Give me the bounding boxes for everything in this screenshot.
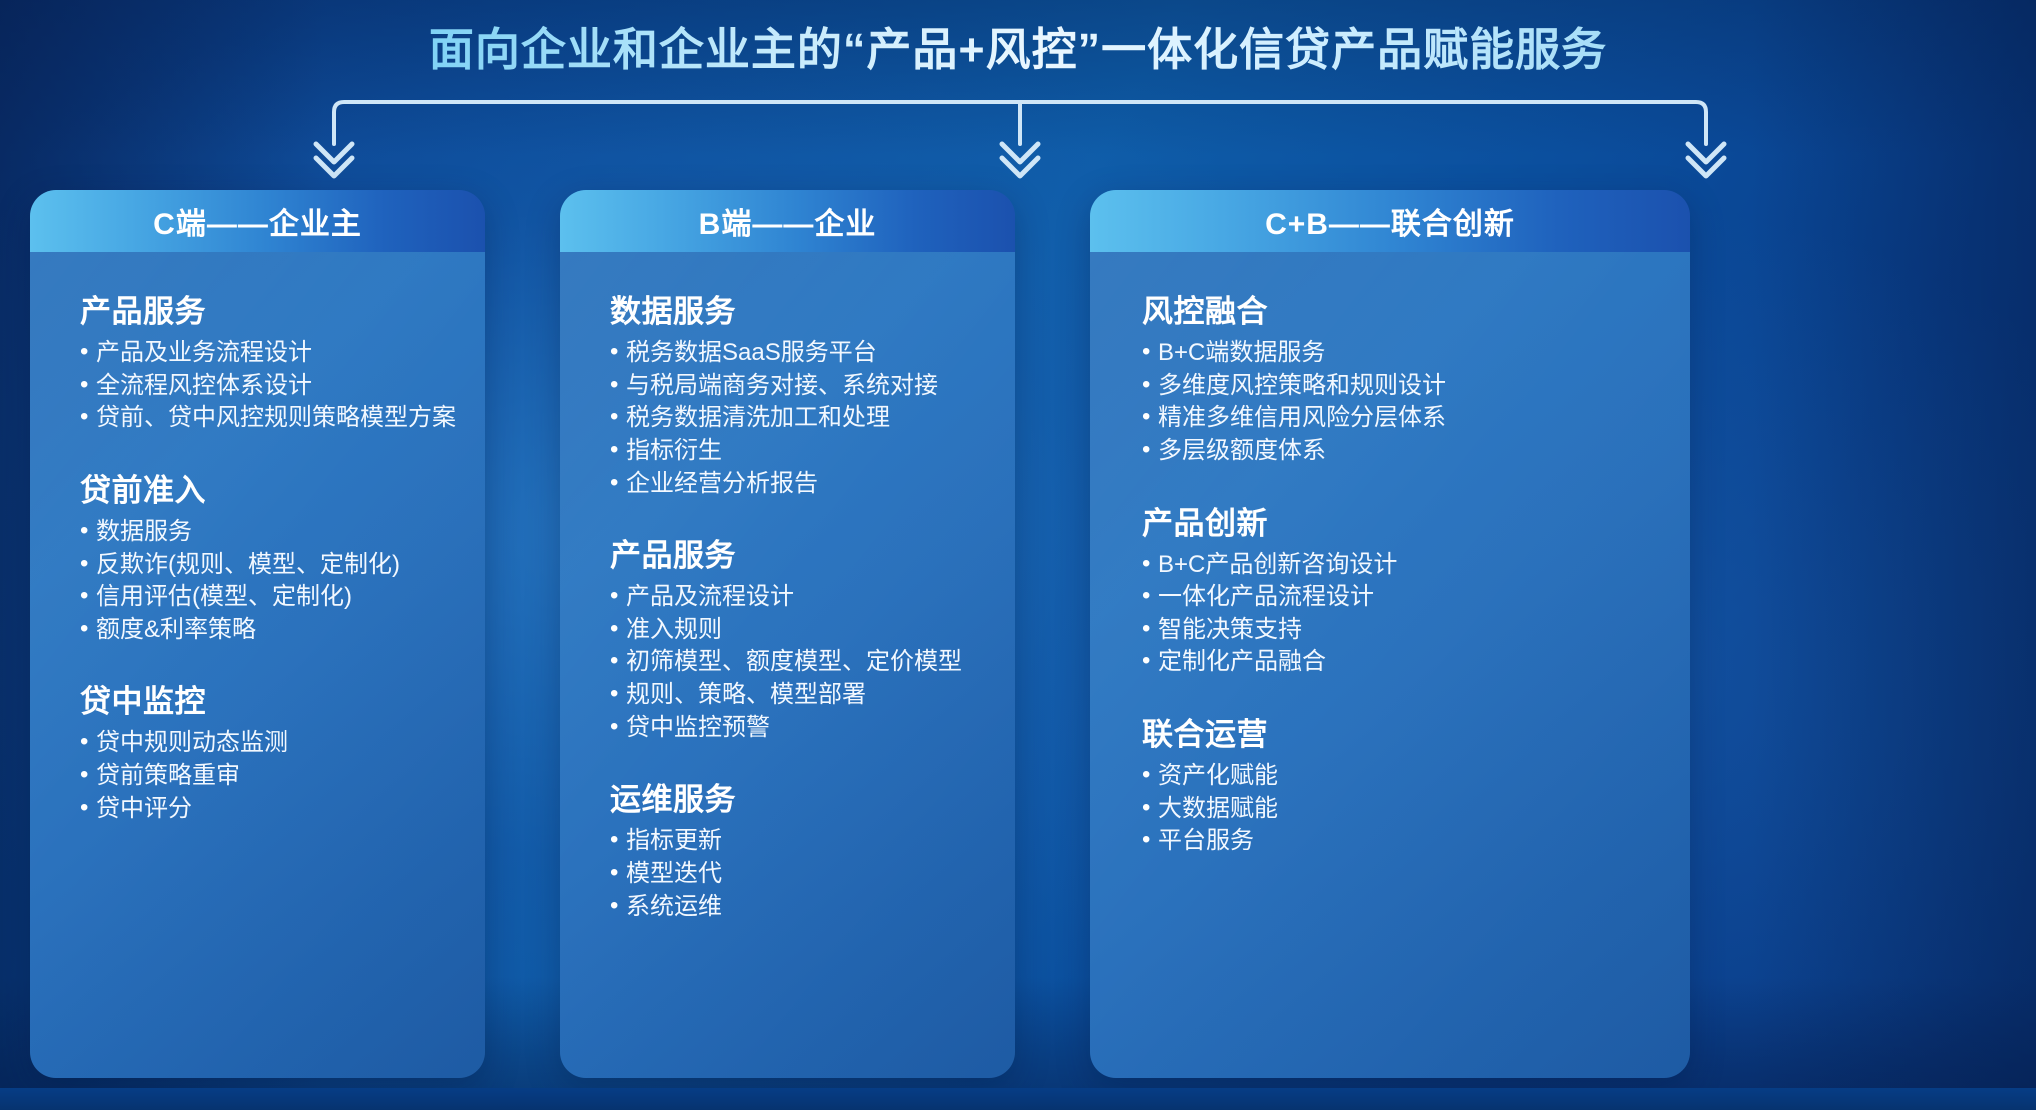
list-item: 指标衍生 bbox=[610, 435, 989, 468]
section-title: 产品服务 bbox=[610, 530, 989, 575]
list-item: 全流程风控体系设计 bbox=[80, 370, 459, 403]
section-in-loan-monitoring: 贷中监控 贷中规则动态监测 贷前策略重审 贷中评分 bbox=[30, 676, 485, 825]
list-item: 系统运维 bbox=[610, 891, 989, 924]
list-item: 规则、策略、模型部署 bbox=[610, 679, 989, 712]
list-item: 反欺诈(规则、模型、定制化) bbox=[80, 549, 459, 582]
bullet-list: 产品及业务流程设计 全流程风控体系设计 贷前、贷中风控规则策略模型方案 bbox=[80, 337, 459, 435]
section-risk-fusion: 风控融合 B+C端数据服务 多维度风控策略和规则设计 精准多维信用风险分层体系 … bbox=[1090, 286, 1690, 468]
card-body-c-end: 产品服务 产品及业务流程设计 全流程风控体系设计 贷前、贷中风控规则策略模型方案… bbox=[30, 252, 485, 1078]
section-title: 产品服务 bbox=[80, 286, 459, 331]
list-item: 额度&利率策略 bbox=[80, 614, 459, 647]
section-pre-loan-admission: 贷前准入 数据服务 反欺诈(规则、模型、定制化) 信用评估(模型、定制化) 额度… bbox=[30, 465, 485, 647]
bullet-list: B+C产品创新咨询设计 一体化产品流程设计 智能决策支持 定制化产品融合 bbox=[1142, 549, 1664, 680]
card-body-b-end: 数据服务 税务数据SaaS服务平台 与税局端商务对接、系统对接 税务数据清洗加工… bbox=[560, 252, 1015, 1078]
card-b-end[interactable]: B端——企业 数据服务 税务数据SaaS服务平台 与税局端商务对接、系统对接 税… bbox=[560, 190, 1015, 1078]
section-title: 贷中监控 bbox=[80, 676, 459, 721]
section-joint-operation: 联合运营 资产化赋能 大数据赋能 平台服务 bbox=[1090, 709, 1690, 858]
card-header-cb-end: C+B——联合创新 bbox=[1090, 190, 1690, 252]
bullet-list: 产品及流程设计 准入规则 初筛模型、额度模型、定价模型 规则、策略、模型部署 贷… bbox=[610, 581, 989, 744]
list-item: 平台服务 bbox=[1142, 825, 1664, 858]
list-item: 贷前、贷中风控规则策略模型方案 bbox=[80, 402, 459, 435]
list-item: 贷中评分 bbox=[80, 793, 459, 826]
card-cb-end[interactable]: C+B——联合创新 风控融合 B+C端数据服务 多维度风控策略和规则设计 精准多… bbox=[1090, 190, 1690, 1078]
bullet-list: B+C端数据服务 多维度风控策略和规则设计 精准多维信用风险分层体系 多层级额度… bbox=[1142, 337, 1664, 468]
list-item: 信用评估(模型、定制化) bbox=[80, 581, 459, 614]
bullet-list: 税务数据SaaS服务平台 与税局端商务对接、系统对接 税务数据清洗加工和处理 指… bbox=[610, 337, 989, 500]
section-data-service: 数据服务 税务数据SaaS服务平台 与税局端商务对接、系统对接 税务数据清洗加工… bbox=[560, 286, 1015, 500]
list-item: 税务数据SaaS服务平台 bbox=[610, 337, 989, 370]
list-item: 产品及业务流程设计 bbox=[80, 337, 459, 370]
list-item: 多维度风控策略和规则设计 bbox=[1142, 370, 1664, 403]
card-header-c-end: C端——企业主 bbox=[30, 190, 485, 252]
section-product-service: 产品服务 产品及业务流程设计 全流程风控体系设计 贷前、贷中风控规则策略模型方案 bbox=[30, 286, 485, 435]
list-item: 精准多维信用风险分层体系 bbox=[1142, 402, 1664, 435]
list-item: 初筛模型、额度模型、定价模型 bbox=[610, 646, 989, 679]
section-product-innovation: 产品创新 B+C产品创新咨询设计 一体化产品流程设计 智能决策支持 定制化产品融… bbox=[1090, 498, 1690, 680]
list-item: 资产化赋能 bbox=[1142, 760, 1664, 793]
section-product-service: 产品服务 产品及流程设计 准入规则 初筛模型、额度模型、定价模型 规则、策略、模… bbox=[560, 530, 1015, 744]
section-title: 风控融合 bbox=[1142, 286, 1664, 331]
list-item: B+C产品创新咨询设计 bbox=[1142, 549, 1664, 582]
card-body-cb-end: 风控融合 B+C端数据服务 多维度风控策略和规则设计 精准多维信用风险分层体系 … bbox=[1090, 252, 1690, 1078]
section-title: 运维服务 bbox=[610, 774, 989, 819]
list-item: 产品及流程设计 bbox=[610, 581, 989, 614]
list-item: 数据服务 bbox=[80, 516, 459, 549]
list-item: 准入规则 bbox=[610, 614, 989, 647]
section-title: 贷前准入 bbox=[80, 465, 459, 510]
list-item: 与税局端商务对接、系统对接 bbox=[610, 370, 989, 403]
list-item: 贷中规则动态监测 bbox=[80, 727, 459, 760]
bullet-list: 数据服务 反欺诈(规则、模型、定制化) 信用评估(模型、定制化) 额度&利率策略 bbox=[80, 516, 459, 647]
section-title: 数据服务 bbox=[610, 286, 989, 331]
card-header-b-end: B端——企业 bbox=[560, 190, 1015, 252]
section-title: 产品创新 bbox=[1142, 498, 1664, 543]
slide-canvas: 面向企业和企业主的“产品+风控”一体化信贷产品赋能服务 C端——企业主 bbox=[0, 0, 2036, 1110]
list-item: 贷前策略重审 bbox=[80, 760, 459, 793]
list-item: 指标更新 bbox=[610, 825, 989, 858]
section-ops-service: 运维服务 指标更新 模型迭代 系统运维 bbox=[560, 774, 1015, 923]
bullet-list: 指标更新 模型迭代 系统运维 bbox=[610, 825, 989, 923]
section-title: 联合运营 bbox=[1142, 709, 1664, 754]
bullet-list: 资产化赋能 大数据赋能 平台服务 bbox=[1142, 760, 1664, 858]
list-item: 企业经营分析报告 bbox=[610, 468, 989, 501]
list-item: 定制化产品融合 bbox=[1142, 646, 1664, 679]
title-container: 面向企业和企业主的“产品+风控”一体化信贷产品赋能服务 bbox=[0, 22, 2036, 78]
bullet-list: 贷中规则动态监测 贷前策略重审 贷中评分 bbox=[80, 727, 459, 825]
page-title: 面向企业和企业主的“产品+风控”一体化信贷产品赋能服务 bbox=[429, 22, 1607, 78]
list-item: 一体化产品流程设计 bbox=[1142, 581, 1664, 614]
list-item: B+C端数据服务 bbox=[1142, 337, 1664, 370]
list-item: 模型迭代 bbox=[610, 858, 989, 891]
card-c-end[interactable]: C端——企业主 产品服务 产品及业务流程设计 全流程风控体系设计 贷前、贷中风控… bbox=[30, 190, 485, 1078]
list-item: 智能决策支持 bbox=[1142, 614, 1664, 647]
list-item: 贷中监控预警 bbox=[610, 712, 989, 745]
cards-row: C端——企业主 产品服务 产品及业务流程设计 全流程风控体系设计 贷前、贷中风控… bbox=[0, 190, 2036, 1080]
list-item: 税务数据清洗加工和处理 bbox=[610, 402, 989, 435]
list-item: 大数据赋能 bbox=[1142, 793, 1664, 826]
list-item: 多层级额度体系 bbox=[1142, 435, 1664, 468]
bottom-strip bbox=[0, 1088, 2036, 1110]
